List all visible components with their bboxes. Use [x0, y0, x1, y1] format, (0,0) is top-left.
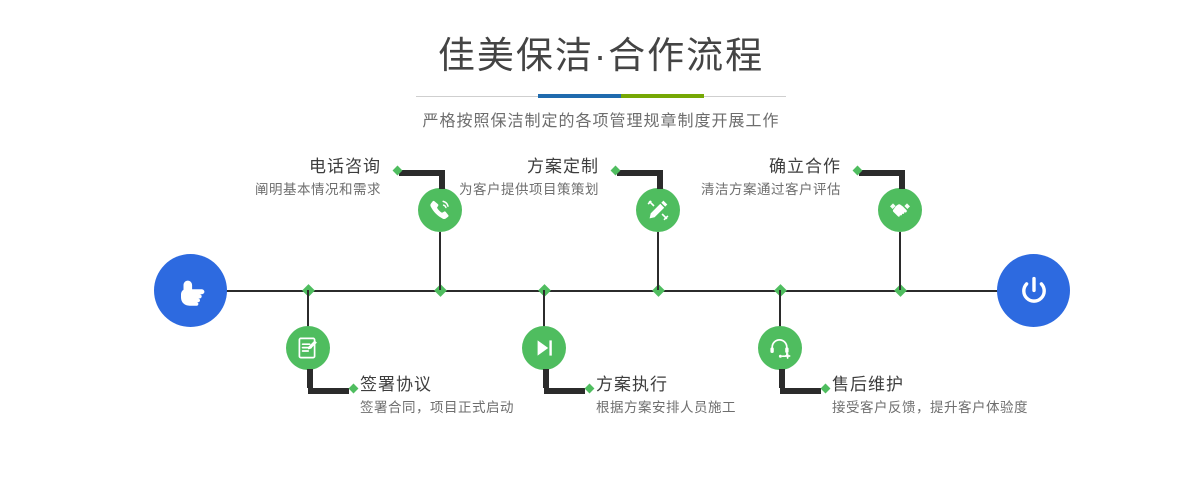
phone-call-icon — [427, 197, 453, 223]
step-1-elbow-vertical — [439, 170, 445, 189]
step-2-desc: 签署合同，项目正式启动 — [360, 398, 514, 418]
title-divider — [416, 91, 786, 102]
power-button-icon — [1014, 271, 1054, 311]
step-4-desc: 根据方案安排人员施工 — [596, 398, 736, 418]
page-title: 佳美保洁·合作流程 — [0, 34, 1202, 78]
step-4-elbow-vertical — [543, 369, 549, 388]
step-6-elbow-vertical — [779, 369, 785, 388]
step-4-bubble[interactable] — [522, 326, 566, 370]
step-2-title: 签署协议 — [360, 374, 514, 396]
customer-service-add-icon — [767, 335, 793, 361]
step-1-stem — [439, 232, 441, 290]
step-2-bubble[interactable] — [286, 326, 330, 370]
step-2-elbow-vertical — [307, 369, 313, 388]
step-3-stem — [657, 232, 659, 290]
pointing-hand-icon — [171, 271, 211, 311]
step-1-bubble[interactable] — [418, 188, 462, 232]
document-edit-icon — [295, 335, 321, 361]
step-1-title: 电话咨询 — [255, 156, 381, 178]
step-3-elbow-horizontal — [617, 170, 658, 176]
step-6-label: 售后维护 接受客户反馈，提升客户体验度 — [832, 374, 1028, 418]
handshake-icon — [887, 197, 913, 223]
step-2-label: 签署协议 签署合同，项目正式启动 — [360, 374, 514, 418]
step-6-elbow-horizontal — [780, 388, 821, 394]
step-6-desc: 接受客户反馈，提升客户体验度 — [832, 398, 1028, 418]
step-3-title: 方案定制 — [459, 156, 599, 178]
flow-start-node[interactable] — [154, 254, 227, 327]
step-3-desc: 为客户提供项目策策划 — [459, 180, 599, 200]
step-5-elbow-horizontal — [859, 170, 900, 176]
page-header: 佳美保洁·合作流程 严格按照保洁制定的各项管理规章制度开展工作 — [0, 0, 1202, 133]
step-6-label-dot — [821, 384, 831, 394]
play-forward-icon — [531, 335, 557, 361]
step-5-label: 确立合作 清洁方案通过客户评估 — [701, 156, 841, 200]
pencil-ruler-icon — [645, 197, 671, 223]
step-2-elbow-horizontal — [308, 388, 349, 394]
step-3-bubble[interactable] — [636, 188, 680, 232]
step-5-title: 确立合作 — [701, 156, 841, 178]
step-2-label-dot — [349, 384, 359, 394]
step-6-title: 售后维护 — [832, 374, 1028, 396]
step-4-title: 方案执行 — [596, 374, 736, 396]
flow-end-node[interactable] — [997, 254, 1070, 327]
page-subtitle: 严格按照保洁制定的各项管理规章制度开展工作 — [0, 111, 1202, 133]
step-4-label-dot — [585, 384, 595, 394]
step-3-label: 方案定制 为客户提供项目策策划 — [459, 156, 599, 200]
step-1-label: 电话咨询 阐明基本情况和需求 — [255, 156, 381, 200]
step-6-bubble[interactable] — [758, 326, 802, 370]
step-1-elbow-horizontal — [399, 170, 440, 176]
process-flow-diagram: 电话咨询 阐明基本情况和需求 方案定制 为客户提供项目策策划 — [0, 150, 1202, 480]
divider-segment-blue — [538, 94, 621, 98]
step-5-elbow-vertical — [899, 170, 905, 189]
step-5-desc: 清洁方案通过客户评估 — [701, 180, 841, 200]
step-4-elbow-horizontal — [544, 388, 585, 394]
divider-segment-green — [621, 94, 704, 98]
step-5-stem — [899, 232, 901, 290]
step-1-desc: 阐明基本情况和需求 — [255, 180, 381, 200]
step-3-elbow-vertical — [657, 170, 663, 189]
timeline-axis — [190, 290, 1040, 292]
step-4-label: 方案执行 根据方案安排人员施工 — [596, 374, 736, 418]
step-5-bubble[interactable] — [878, 188, 922, 232]
